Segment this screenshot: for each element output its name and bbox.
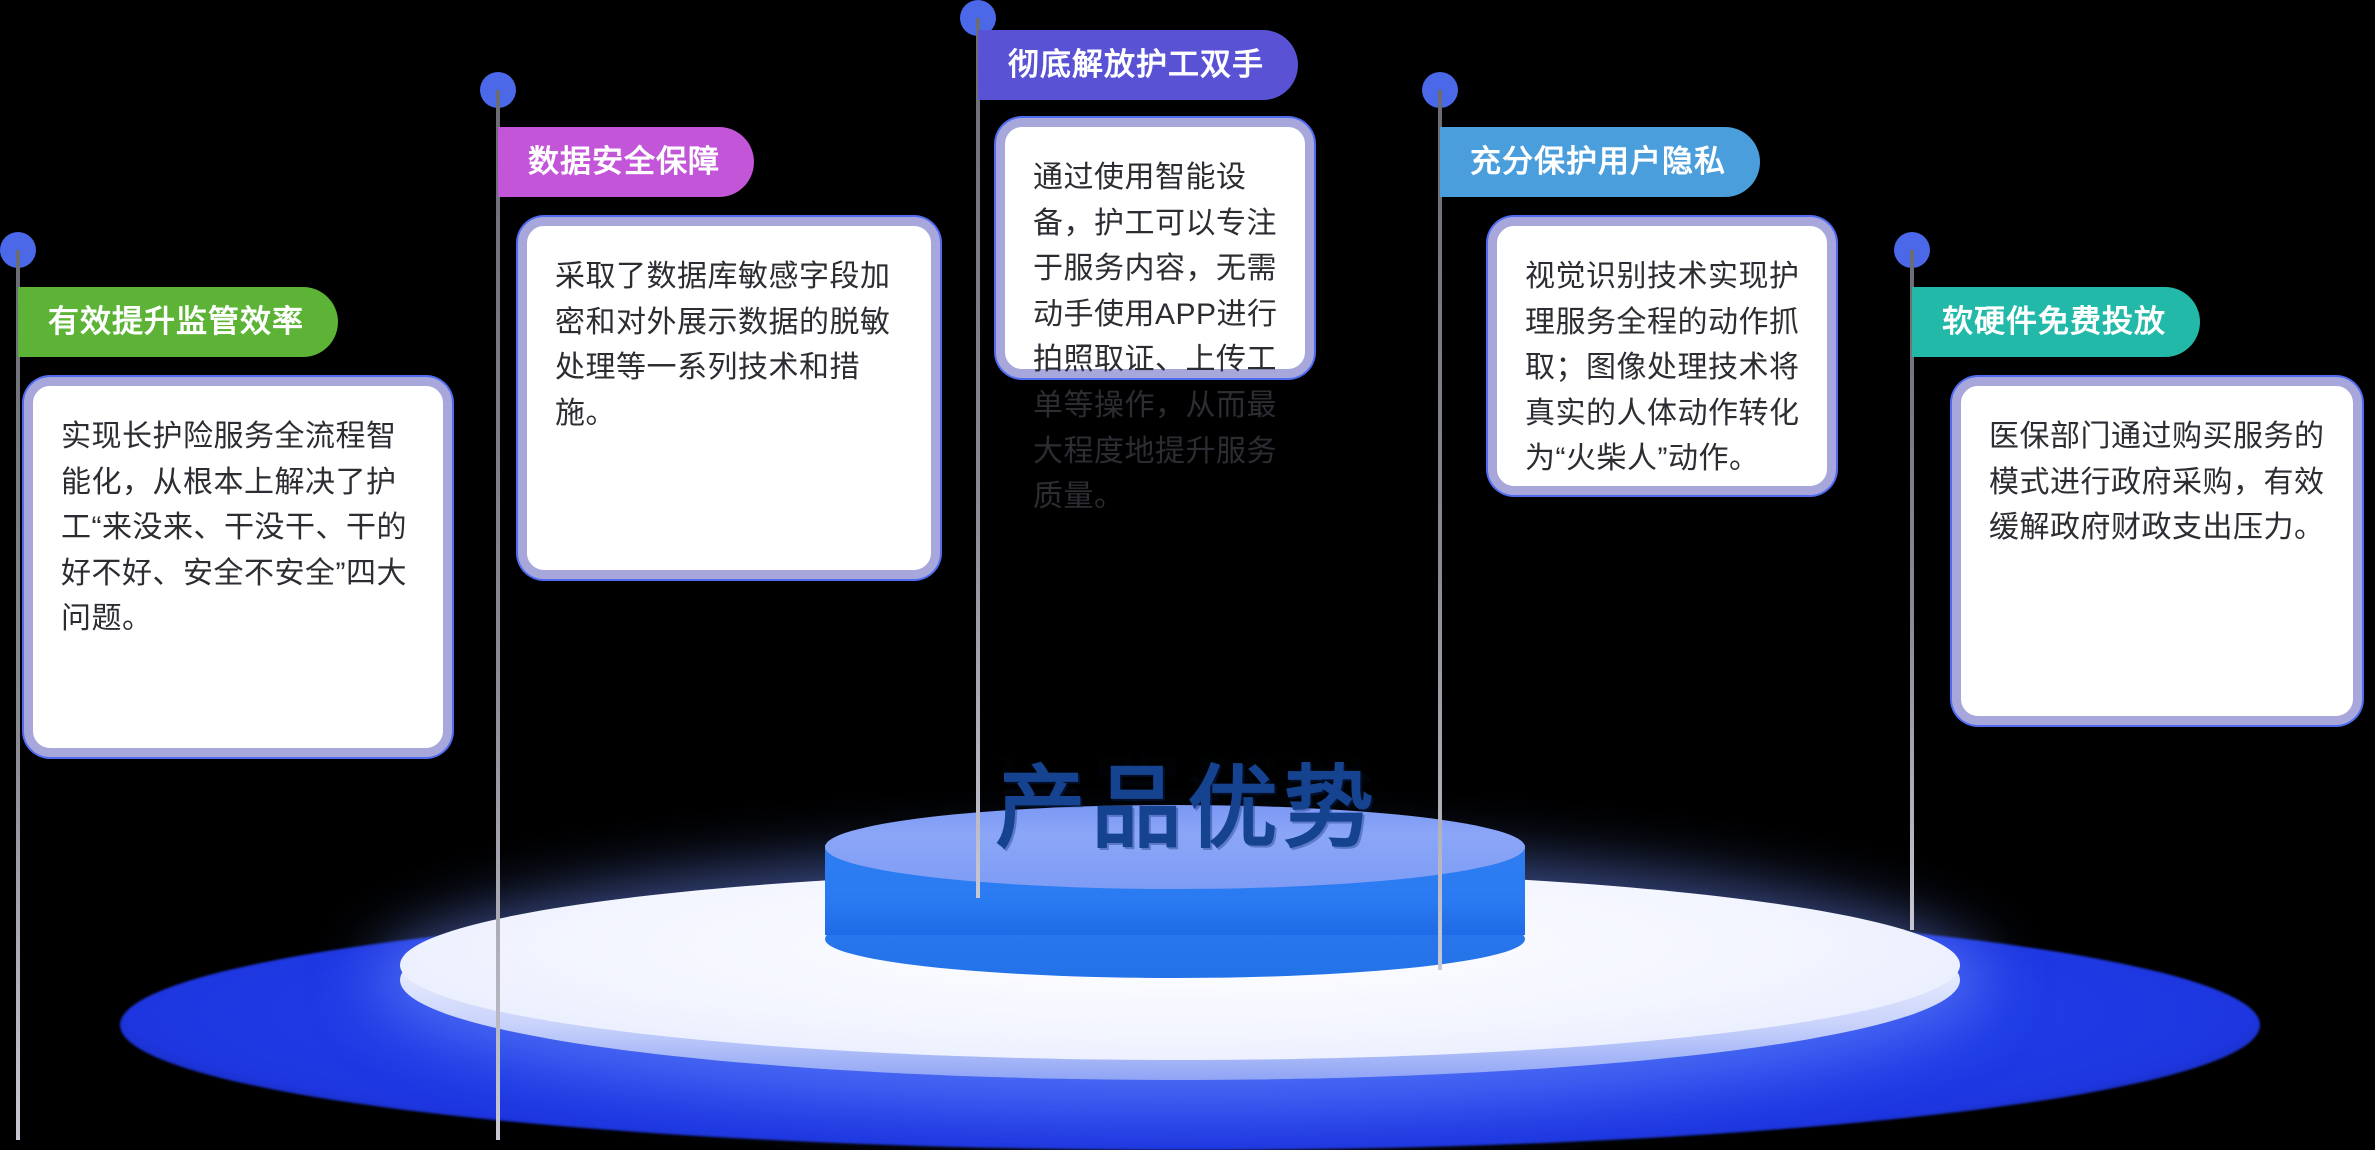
connector-line	[16, 250, 20, 1140]
podium-white-disc-top	[400, 870, 1960, 1060]
card-badge-4[interactable]: 充分保护用户隐私	[1440, 127, 1760, 197]
card-badge-2[interactable]: 数据安全保障	[498, 127, 754, 197]
card-badge-label-4: 充分保护用户隐私	[1470, 144, 1726, 179]
card-badge-1[interactable]: 有效提升监管效率	[18, 287, 338, 357]
card-badge-label-2: 数据安全保障	[528, 144, 720, 179]
card-body-1: 实现长护险服务全流程智能化，从根本上解决了护工“来没来、干没干、干的好不好、安全…	[24, 377, 452, 757]
card-body-5: 医保部门通过购买服务的模式进行政府采购，有效缓解政府财政支出压力。	[1952, 377, 2362, 725]
card-badge-3[interactable]: 彻底解放护工双手	[978, 30, 1298, 100]
card-badge-label-1: 有效提升监管效率	[48, 304, 304, 339]
card-badge-label-3: 彻底解放护工双手	[1008, 47, 1264, 82]
podium-cylinder-bottom-cap	[825, 900, 1525, 978]
card-badge-label-5: 软硬件免费投放	[1942, 304, 2166, 339]
card-text-5: 医保部门通过购买服务的模式进行政府采购，有效缓解政府财政支出压力。	[1961, 386, 2353, 577]
card-body-4: 视觉识别技术实现护理服务全程的动作抓取；图像处理技术将真实的人体动作转化为“火柴…	[1488, 217, 1836, 495]
connector-line	[1438, 90, 1442, 970]
card-text-2: 采取了数据库敏感字段加密和对外展示数据的脱敏处理等一系列技术和措施。	[527, 226, 931, 462]
card-text-4: 视觉识别技术实现护理服务全程的动作抓取；图像处理技术将真实的人体动作转化为“火柴…	[1497, 226, 1827, 508]
card-body-3: 通过使用智能设备，护工可以专注于服务内容，无需动手使用APP进行拍照取证、上传工…	[996, 118, 1314, 378]
connector-line	[976, 18, 980, 898]
podium-white-disc-side	[400, 880, 1960, 1080]
card-badge-5[interactable]: 软硬件免费投放	[1912, 287, 2200, 357]
podium-glow-base	[120, 900, 2260, 1150]
infographic-canvas: 产品优势 产品优势 有效提升监管效率 实现长护险服务全流程智能化，从根本上解决了…	[0, 0, 2375, 1130]
connector-line	[496, 90, 500, 1140]
card-body-2: 采取了数据库敏感字段加密和对外展示数据的脱敏处理等一系列技术和措施。	[518, 217, 940, 579]
card-text-3: 通过使用智能设备，护工可以专注于服务内容，无需动手使用APP进行拍照取证、上传工…	[1005, 127, 1305, 546]
card-text-1: 实现长护险服务全流程智能化，从根本上解决了护工“来没来、干没干、干的好不好、安全…	[33, 386, 443, 668]
